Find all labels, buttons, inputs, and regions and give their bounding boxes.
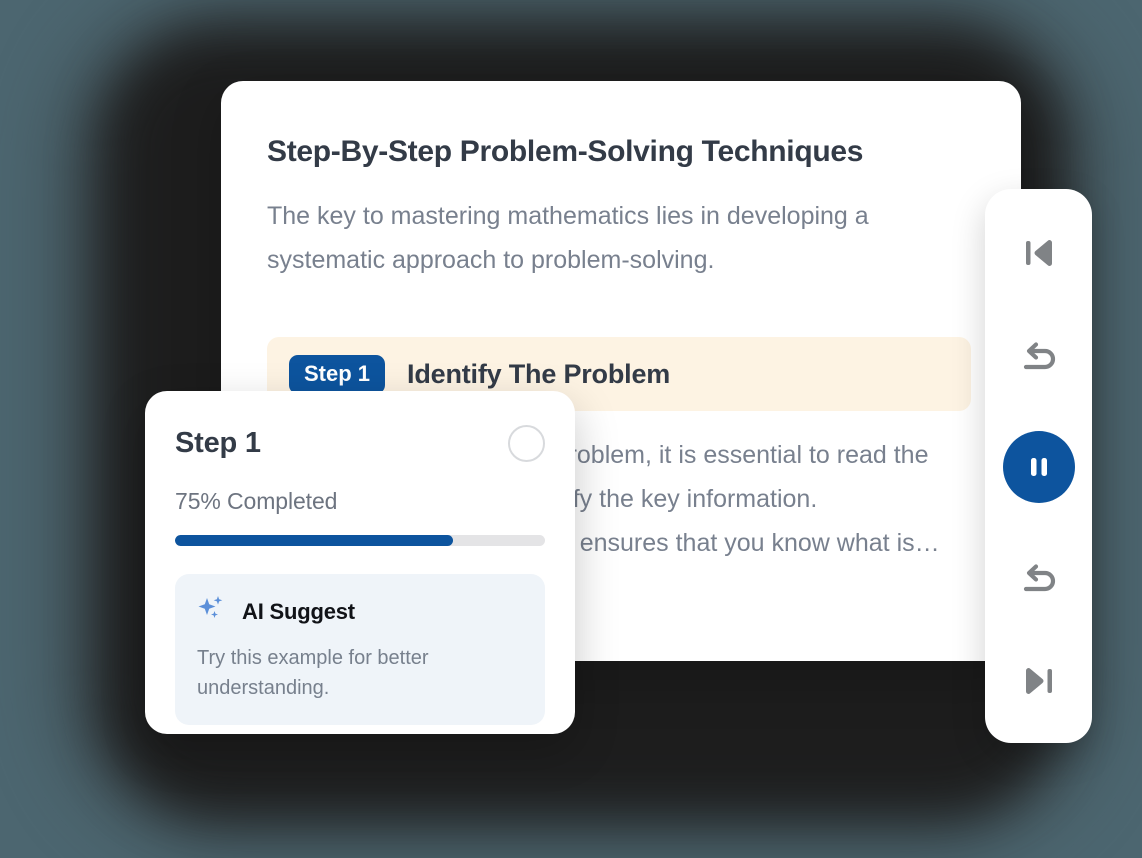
- progress-bar-track[interactable]: [175, 535, 545, 546]
- ai-suggest-text: Try this example for better understandin…: [197, 643, 523, 703]
- undo-icon: [1017, 556, 1061, 600]
- undo-button[interactable]: [1011, 328, 1067, 384]
- step-card-title: Step 1: [175, 427, 261, 460]
- redo-button[interactable]: [1011, 550, 1067, 606]
- pause-icon: [1022, 450, 1056, 484]
- step-badge: Step 1: [289, 355, 385, 394]
- ai-suggest-header: AI Suggest: [197, 594, 523, 629]
- skip-forward-button[interactable]: [1011, 653, 1067, 709]
- step-complete-checkbox[interactable]: [508, 425, 545, 462]
- lesson-subtitle: The key to mastering mathematics lies in…: [267, 194, 957, 282]
- progress-bar-fill: [175, 535, 453, 546]
- step-card-header: Step 1: [175, 425, 545, 462]
- pause-button[interactable]: [1003, 431, 1075, 503]
- skip-forward-icon: [1017, 659, 1061, 703]
- step-heading: Identify The Problem: [407, 359, 670, 390]
- page-title: Step-By-Step Problem-Solving Techniques: [267, 133, 987, 171]
- skip-back-icon: [1017, 231, 1061, 275]
- undo-icon: [1017, 334, 1061, 378]
- ai-suggest-box[interactable]: AI Suggest Try this example for better u…: [175, 574, 545, 725]
- playback-control-rail: [985, 189, 1092, 743]
- ai-suggest-title: AI Suggest: [242, 599, 355, 625]
- skip-back-button[interactable]: [1011, 225, 1067, 281]
- screenshot-stage: Step-By-Step Problem-Solving Techniques …: [0, 0, 1142, 858]
- sparkle-icon: [197, 594, 227, 629]
- step-progress-card: Step 1 75% Completed AI Suggest Try this…: [145, 391, 575, 734]
- progress-label: 75% Completed: [175, 488, 545, 515]
